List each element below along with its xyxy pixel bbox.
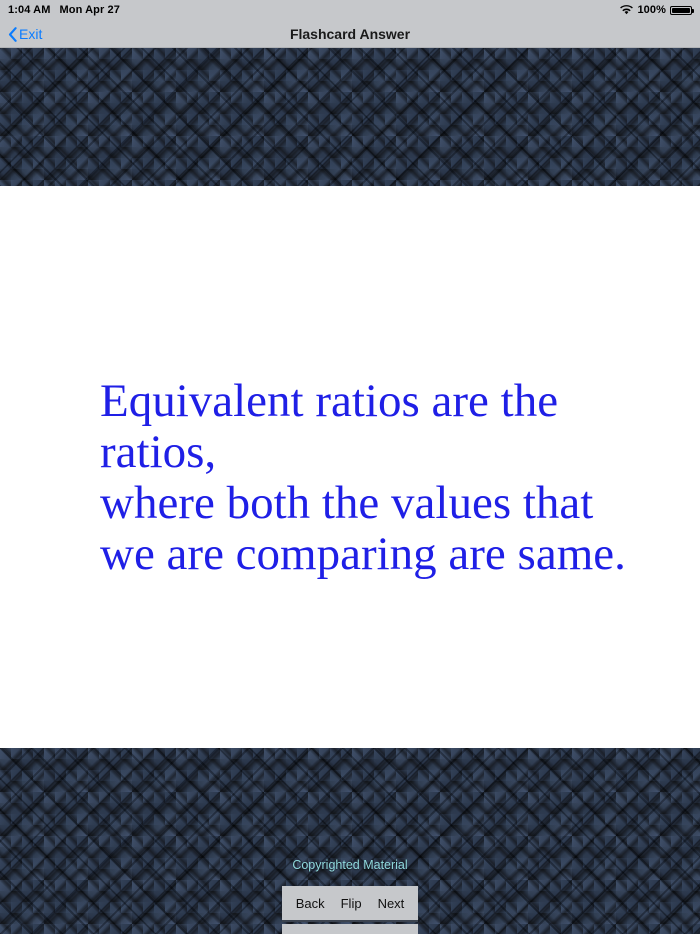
background-texture-top: [0, 48, 700, 186]
status-bar: 1:04 AM Mon Apr 27 100%: [0, 0, 700, 20]
navigation-bar: Exit Flashcard Answer: [0, 20, 700, 48]
next-button[interactable]: Next: [377, 894, 406, 913]
flashcard-answer-text: Equivalent ratios are the ratios, where …: [100, 376, 640, 580]
flashcard-screen: 1:04 AM Mon Apr 27 100%: [0, 0, 700, 934]
status-time: 1:04 AM: [8, 4, 50, 16]
wifi-icon: [620, 5, 633, 15]
flashcard-toolbar-footer: [282, 924, 418, 934]
battery-percent-label: 100%: [637, 4, 666, 16]
status-bar-left: 1:04 AM Mon Apr 27: [8, 4, 120, 16]
status-date: Mon Apr 27: [59, 4, 120, 16]
status-bar-right: 100%: [620, 4, 692, 16]
copyright-notice: Copyrighted Material: [0, 858, 700, 872]
page-title: Flashcard Answer: [0, 20, 700, 48]
battery-full-icon: [670, 6, 692, 15]
back-button[interactable]: Back: [295, 894, 326, 913]
flashcard-toolbar: Back Flip Next: [282, 886, 418, 922]
flip-button[interactable]: Flip: [340, 894, 363, 913]
flashcard-page[interactable]: Equivalent ratios are the ratios, where …: [0, 186, 700, 748]
